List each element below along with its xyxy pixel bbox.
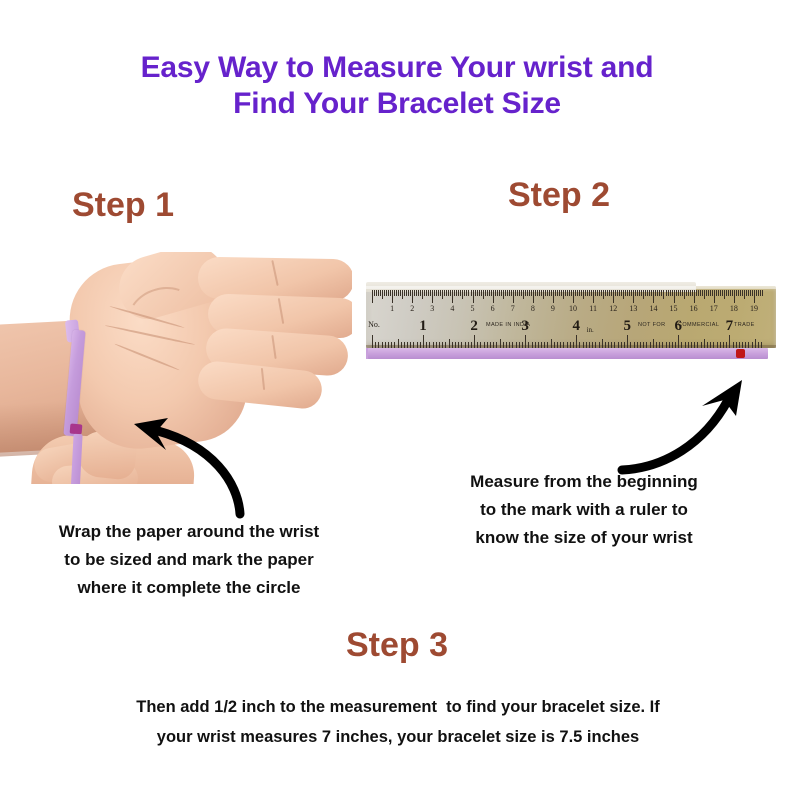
ruler-metric-tick — [696, 290, 697, 296]
ruler-metric-tick — [670, 290, 671, 296]
ruler-metric-tick — [627, 290, 628, 296]
ruler-metric-tick — [376, 290, 377, 296]
ruler-metric-tick — [641, 290, 642, 296]
ruler-imperial-tick — [525, 335, 526, 348]
ruler-metric-tick — [468, 290, 469, 296]
ruler-metric-tick — [398, 290, 399, 296]
ruler-metric-tick — [561, 290, 562, 296]
ruler-metric-tick — [762, 290, 763, 296]
ruler-metric-tick — [613, 290, 614, 303]
ruler-metric-tick — [565, 290, 566, 296]
ruler-metric-tick — [471, 290, 472, 296]
ruler-metric-tick — [657, 290, 658, 296]
ruler-metric-tick — [706, 290, 707, 296]
ruler-metric-tick — [464, 290, 465, 296]
ruler-metric-tick — [744, 290, 745, 299]
ruler-metric-tick — [422, 290, 423, 299]
ruler-metric-tick — [609, 290, 610, 296]
ruler-metric-tick — [466, 290, 467, 296]
ruler-metric-tick — [633, 290, 634, 303]
ruler-metric-tick — [454, 290, 455, 296]
ruler-metric-number: 11 — [589, 304, 597, 313]
paper-strip-under-ruler — [368, 348, 768, 359]
ruler-metric-number: 18 — [730, 304, 738, 313]
ruler-metric-tick — [414, 290, 415, 296]
ruler-imperial-number: 5 — [623, 318, 631, 335]
ruler-made-in-india-text: MADE IN INDIA — [486, 322, 530, 328]
step-3-caption-line-1: Then add 1/2 inch to the measurement to … — [60, 692, 736, 722]
step-2-caption-line-1: Measure from the beginning — [408, 468, 760, 496]
ruler-metric-tick — [450, 290, 451, 296]
ruler-metric-tick — [475, 290, 476, 296]
ruler-metric-tick — [555, 290, 556, 296]
ruler-metric-tick — [396, 290, 397, 296]
ruler-metric-tick — [559, 290, 560, 296]
ruler-metric-tick — [517, 290, 518, 296]
ruler-metric-tick — [388, 290, 389, 296]
ruler-metric-number: 14 — [649, 304, 657, 313]
ruler-metric-tick — [577, 290, 578, 296]
ruler-metric-number: 3 — [430, 304, 434, 313]
step-2-pointer-arrow-icon — [612, 372, 752, 480]
ruler-metric-tick — [740, 290, 741, 296]
ruler-metric-tick — [676, 290, 677, 296]
ruler-metric-tick — [462, 290, 463, 299]
ruler-metric-tick — [549, 290, 550, 296]
infographic-canvas: Easy Way to Measure Your wrist and Find … — [0, 0, 794, 794]
ruler-metric-tick — [734, 290, 735, 303]
ruler-metric-number: 8 — [531, 304, 535, 313]
ruler-metric-tick — [674, 290, 675, 303]
step-2-heading: Step 2 — [508, 175, 610, 215]
ruler-metric-tick — [390, 290, 391, 296]
ruler-metric-tick — [742, 290, 743, 296]
ruler-metric-tick — [750, 290, 751, 296]
ruler-metric-tick — [714, 290, 715, 303]
ruler-metric-tick — [400, 290, 401, 296]
ruler-metric-tick — [686, 290, 687, 296]
ruler-commercial-text: COMMERCIAL — [678, 322, 719, 328]
ruler-metric-tick — [456, 290, 457, 296]
ruler-metric-tick — [497, 290, 498, 296]
ruler-metric-tick — [424, 290, 425, 296]
ruler-metric-tick — [545, 290, 546, 296]
ruler-metric-tick — [481, 290, 482, 296]
ruler-metric-number: 12 — [609, 304, 617, 313]
ruler-metric-tick — [698, 290, 699, 296]
ruler-metric-tick — [619, 290, 620, 296]
ruler-metric-tick — [503, 290, 504, 299]
ruler-metric-tick — [479, 290, 480, 296]
ruler-metric-tick — [720, 290, 721, 296]
ruler-metric-number: 2 — [410, 304, 414, 313]
ruler-metric-tick — [460, 290, 461, 296]
ruler-metric-tick — [754, 290, 755, 303]
ruler-metric-tick — [511, 290, 512, 296]
ruler-metric-tick — [386, 290, 387, 296]
ruler-metric-tick — [603, 290, 604, 299]
ruler-metric-tick — [543, 290, 544, 299]
ruler-metric-tick — [537, 290, 538, 296]
ruler-metric-tick — [629, 290, 630, 296]
ruler-metric-number: 13 — [629, 304, 637, 313]
ruler-metric-tick — [509, 290, 510, 296]
ruler-imperial-number: 2 — [470, 318, 478, 335]
ruler-metric-number: 15 — [670, 304, 678, 313]
ruler-metric-tick — [738, 290, 739, 296]
ruler-metric-number: 10 — [569, 304, 577, 313]
step-1-caption-line-1: Wrap the paper around the wrist — [4, 518, 374, 546]
ruler-metric-tick — [589, 290, 590, 296]
ruler-metric-tick — [690, 290, 691, 296]
ruler-metric-tick — [617, 290, 618, 296]
ruler-metric-tick — [521, 290, 522, 296]
ruler-metric-tick — [523, 290, 524, 299]
ruler-metric-tick — [412, 290, 413, 303]
ruler-metric-tick — [585, 290, 586, 296]
ruler-metric-tick — [473, 290, 474, 303]
ruler-metric-tick — [551, 290, 552, 296]
ruler-metric-number: 17 — [710, 304, 718, 313]
step-3-caption: Then add 1/2 inch to the measurement to … — [60, 692, 736, 752]
ruler-metric-number: 4 — [450, 304, 454, 313]
ruler-metric-tick — [438, 290, 439, 296]
ruler-metric-tick — [495, 290, 496, 296]
step-3-heading: Step 3 — [0, 625, 794, 665]
ruler-metric-tick — [688, 290, 689, 296]
ruler-metric-tick — [477, 290, 478, 296]
ruler-metric-tick — [392, 290, 393, 303]
page-title: Easy Way to Measure Your wrist and Find … — [0, 50, 794, 122]
ruler-metric-tick — [535, 290, 536, 296]
ruler-metric-tick — [668, 290, 669, 296]
ruler-metric-tick — [446, 290, 447, 296]
ruler-metric-tick — [525, 290, 526, 296]
page-title-line-1: Easy Way to Measure Your wrist and — [0, 50, 794, 86]
ruler-metric-tick — [563, 290, 564, 299]
ruler-metric-tick — [404, 290, 405, 296]
ruler-metric-tick — [581, 290, 582, 296]
ruler-metric-tick — [444, 290, 445, 296]
ruler-metric-number: 16 — [690, 304, 698, 313]
ruler-metric-tick — [452, 290, 453, 303]
ruler-metric-tick — [420, 290, 421, 296]
ruler-metric-tick — [692, 290, 693, 296]
ruler-metric-tick — [430, 290, 431, 296]
ruler-metric-tick — [621, 290, 622, 296]
red-measurement-mark — [736, 349, 745, 358]
ruler-metric-tick — [408, 290, 409, 296]
ruler-metric-tick — [583, 290, 584, 299]
ruler-imperial-number: 7 — [726, 318, 734, 335]
ruler-metric-tick — [724, 290, 725, 299]
ruler-metric-tick — [448, 290, 449, 296]
ruler-metric-tick — [726, 290, 727, 296]
ruler-metric-tick — [406, 290, 407, 296]
ruler-metric-tick — [645, 290, 646, 296]
ruler-metric-tick — [557, 290, 558, 296]
ruler-imperial-number: 1 — [419, 318, 427, 335]
ruler-imperial-number: 4 — [572, 318, 580, 335]
ruler-metric-tick — [655, 290, 656, 296]
ruler-metric-tick — [712, 290, 713, 296]
ruler-metric-tick — [722, 290, 723, 296]
ruler-imperial-tick — [653, 339, 654, 348]
page-title-line-2: Find Your Bracelet Size — [0, 86, 794, 122]
ruler-metric-tick — [539, 290, 540, 296]
ruler-imperial-tick — [678, 335, 679, 348]
ruler-metric-tick — [597, 290, 598, 296]
ruler-trade-text: TRADE — [734, 322, 755, 328]
ruler-metric-tick — [382, 290, 383, 299]
ruler-metric-tick — [579, 290, 580, 296]
ruler-metric-tick — [483, 290, 484, 299]
ruler-metric-tick — [505, 290, 506, 296]
ruler-metric-tick — [663, 290, 664, 299]
ruler-metric-tick — [531, 290, 532, 296]
ruler-metric-tick — [529, 290, 530, 296]
ruler-imperial-tick — [474, 335, 475, 348]
ruler-metric-tick — [611, 290, 612, 296]
ruler-metric-tick — [591, 290, 592, 296]
ruler-metric-tick — [458, 290, 459, 296]
ruler-metric-tick — [637, 290, 638, 296]
ruler-metric-number: 7 — [511, 304, 515, 313]
ruler-metric-tick — [547, 290, 548, 296]
ruler-metric-tick — [746, 290, 747, 296]
ruler-imperial-tick — [755, 339, 756, 348]
ruler-imperial-tick — [729, 335, 730, 348]
ruler-metric-tick — [501, 290, 502, 296]
ruler-imperial-tick — [423, 335, 424, 348]
ruler-metric-tick — [643, 290, 644, 299]
ruler-metric-tick — [378, 290, 379, 296]
ruler-metric-tick — [374, 290, 375, 296]
step-2-caption-line-2: to the mark with a ruler to — [408, 496, 760, 524]
ruler-metric-tick — [694, 290, 695, 303]
ruler-metric-number: 1 — [390, 304, 394, 313]
ruler-metric-tick — [647, 290, 648, 296]
ruler-metric-tick — [607, 290, 608, 296]
ruler-metric-tick — [434, 290, 435, 296]
ruler-imperial-tick — [500, 339, 501, 348]
ruler-metric-tick — [710, 290, 711, 296]
ruler-metric-tick — [631, 290, 632, 296]
ruler-metric-tick — [682, 290, 683, 296]
ruler-metric-tick — [567, 290, 568, 296]
step-2-caption-line-3: know the size of your wrist — [408, 524, 760, 552]
ruler-metric-tick — [736, 290, 737, 296]
paper-strip-mark — [70, 423, 83, 434]
ruler-metric-tick — [410, 290, 411, 296]
ruler-metric-tick — [756, 290, 757, 296]
ruler-imperial-tick — [576, 335, 577, 348]
ruler-metric-tick — [575, 290, 576, 296]
ruler-imperial-tick — [449, 339, 450, 348]
ruler-metric-tick — [507, 290, 508, 296]
ruler-metric-tick — [605, 290, 606, 296]
ruler-metric-tick — [571, 290, 572, 296]
ruler-metric-tick — [700, 290, 701, 296]
ruler-metric-tick — [428, 290, 429, 296]
ruler-imperial-unit-label: in. — [587, 326, 594, 334]
ruler-top-edge — [366, 286, 776, 289]
ruler-metric-tick — [702, 290, 703, 296]
ruler-metric-tick — [748, 290, 749, 296]
ruler-metric-tick — [384, 290, 385, 296]
step-2-caption: Measure from the beginning to the mark w… — [408, 468, 760, 552]
step-2-ruler-photo: 12345678910111213141516171819 1234567in.… — [366, 282, 776, 364]
ruler-metric-tick — [489, 290, 490, 296]
ruler-metric-tick — [440, 290, 441, 296]
ruler-imperial-tick — [704, 339, 705, 348]
step-1-pointer-arrow-icon — [118, 410, 258, 520]
ruler-metric-tick — [639, 290, 640, 296]
ruler-metric-tick — [649, 290, 650, 296]
ruler-metric-tick — [436, 290, 437, 296]
ruler-metric-tick — [760, 290, 761, 296]
ruler-metric-tick — [593, 290, 594, 303]
ruler-metric-tick — [672, 290, 673, 296]
ruler-metric-tick — [684, 290, 685, 299]
ruler-metric-tick — [716, 290, 717, 296]
step-1-caption-line-3: where it complete the circle — [4, 574, 374, 602]
ruler-metric-tick — [730, 290, 731, 296]
step-1-heading: Step 1 — [72, 185, 174, 225]
ruler-metric-tick — [680, 290, 681, 296]
ruler-metric-tick — [493, 290, 494, 303]
ruler-imperial-tick — [372, 335, 373, 348]
ruler-metric-tick — [758, 290, 759, 296]
ruler-imperial-tick — [551, 339, 552, 348]
ruler-metric-tick — [595, 290, 596, 296]
ruler-metric-tick — [519, 290, 520, 296]
ruler-metric-tick — [553, 290, 554, 303]
ruler-metric-tick — [426, 290, 427, 296]
ruler-metric-tick — [527, 290, 528, 296]
ruler-metric-tick — [499, 290, 500, 296]
ruler-metric-tick — [402, 290, 403, 299]
ruler-metric-tick — [394, 290, 395, 296]
ruler-metric-tick — [541, 290, 542, 296]
ruler-metric-tick — [372, 290, 373, 303]
ruler-metric-tick — [432, 290, 433, 303]
ruler-metric-tick — [732, 290, 733, 296]
ruler-metric-number: 6 — [491, 304, 495, 313]
ruler-metric-tick — [653, 290, 654, 303]
ruler-metric-tick — [418, 290, 419, 296]
step-1-caption-line-2: to be sized and mark the paper — [4, 546, 374, 574]
ruler-metric-tick — [601, 290, 602, 296]
ruler-metric-number: 5 — [471, 304, 475, 313]
ruler-not-for-text: NOT FOR — [638, 322, 665, 328]
ruler-metric-tick — [416, 290, 417, 296]
ruler-metric-tick — [513, 290, 514, 303]
ruler-metric-number: 19 — [750, 304, 758, 313]
ruler-metric-tick — [485, 290, 486, 296]
ruler-metric-tick — [615, 290, 616, 296]
ruler-metric-tick — [533, 290, 534, 303]
ruler-metric-tick — [587, 290, 588, 296]
ruler-imperial-tick — [627, 335, 628, 348]
ruler-metric-tick — [573, 290, 574, 303]
ruler-metric-tick — [708, 290, 709, 296]
ruler-metric-tick — [442, 290, 443, 299]
ruler-metric-tick — [659, 290, 660, 296]
ruler-metric-tick — [625, 290, 626, 296]
ruler-metric-tick — [599, 290, 600, 296]
ruler-metric-tick — [380, 290, 381, 296]
ruler-metric-tick — [623, 290, 624, 299]
ruler-metric-number: 9 — [551, 304, 555, 313]
ruler-metric-tick — [487, 290, 488, 296]
ruler-metric-tick — [704, 290, 705, 299]
ruler-metric-tick — [515, 290, 516, 296]
ruler-metric-tick — [661, 290, 662, 296]
ruler-metric-tick — [635, 290, 636, 296]
ruler-metric-tick — [678, 290, 679, 296]
ruler-metric-tick — [728, 290, 729, 296]
step-3-caption-line-2: your wrist measures 7 inches, your brace… — [60, 722, 736, 752]
ruler-metric-tick — [569, 290, 570, 296]
ruler-metric-tick — [651, 290, 652, 296]
ruler-metric-tick — [752, 290, 753, 296]
ruler-metric-tick — [718, 290, 719, 296]
ruler-start-label: No. — [368, 320, 380, 329]
step-1-caption: Wrap the paper around the wrist to be si… — [4, 518, 374, 602]
ruler-imperial-tick — [398, 339, 399, 348]
ruler-imperial-tick — [602, 339, 603, 348]
ruler-metric-tick — [666, 290, 667, 296]
ruler-metric-tick — [491, 290, 492, 296]
